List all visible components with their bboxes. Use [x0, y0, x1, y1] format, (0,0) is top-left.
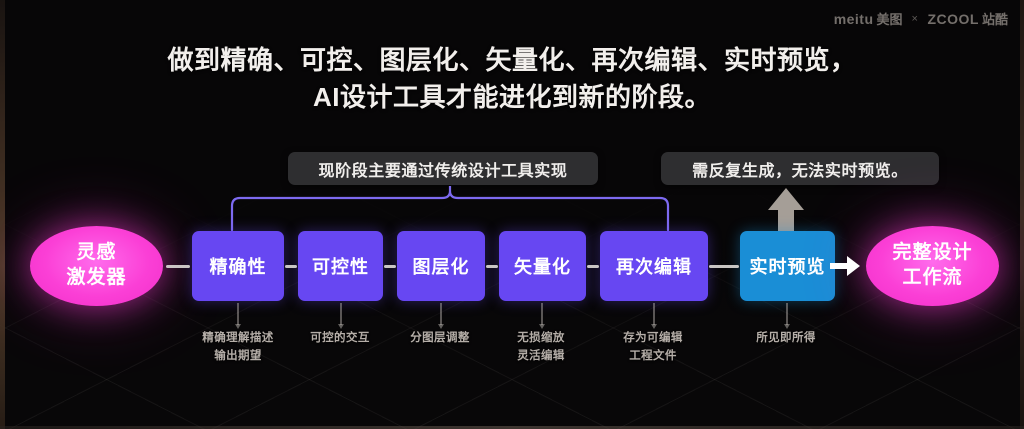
caption-vectorize: 无损缩放 灵活编辑 [487, 330, 595, 366]
caption-layering: 分图层调整 [386, 330, 494, 348]
flow-end-oval-line2: 工作流 [902, 266, 962, 291]
callout-no-realtime-preview: 需反复生成，无法实时预览。 [661, 152, 939, 185]
flow-start-oval-line2: 激发器 [66, 266, 126, 291]
flow-end-oval-line1: 完整设计 [892, 241, 972, 266]
flow-start-oval: 灵感 激发器 [30, 226, 163, 306]
callout-traditional-tools: 现阶段主要通过传统设计工具实现 [288, 152, 598, 185]
meitu-logo-latin: meitu [834, 11, 874, 27]
tick-vectorize [541, 303, 543, 325]
meitu-logo: meitu 美图 [834, 9, 903, 28]
brand-lockup: meitu 美图 × ZCOOL 站酷 [834, 9, 1008, 28]
tick-precision [237, 303, 239, 325]
connector-layer-to-vector [486, 265, 498, 268]
connector-reedit-to-preview [709, 265, 739, 268]
right-arrow-icon [830, 254, 860, 278]
connector-control-to-layer [384, 265, 396, 268]
zcool-logo: ZCOOL 站酷 [927, 9, 1008, 28]
meitu-logo-cn: 美图 [877, 9, 903, 28]
flow-node-vectorize[interactable]: 矢量化 [499, 231, 586, 301]
brand-separator-icon: × [912, 13, 919, 25]
slide-title: 做到精确、可控、图层化、矢量化、再次编辑、实时预览， AI设计工具才能进化到新的… [0, 42, 1024, 116]
flow-node-precision[interactable]: 精确性 [192, 231, 284, 301]
flow-start-oval-line1: 灵感 [76, 241, 116, 266]
slide-title-line1: 做到精确、可控、图层化、矢量化、再次编辑、实时预览， [167, 45, 856, 75]
slide-canvas: meitu 美图 × ZCOOL 站酷 做到精确、可控、图层化、矢量化、再次编辑… [0, 0, 1024, 429]
caption-controllable: 可控的交互 [288, 330, 392, 348]
connector-precision-to-control [285, 265, 297, 268]
flow-node-live-preview[interactable]: 实时预览 [740, 231, 835, 301]
tick-layering [440, 303, 442, 325]
flow-node-controllable[interactable]: 可控性 [298, 231, 383, 301]
flow-end-oval: 完整设计 工作流 [866, 226, 999, 306]
flow-node-layering[interactable]: 图层化 [397, 231, 485, 301]
tick-live-preview [786, 303, 788, 325]
caption-live-preview: 所见即所得 [730, 330, 842, 348]
caption-re-edit: 存为可编辑 工程文件 [597, 330, 709, 366]
tick-controllable [340, 303, 342, 325]
connector-vector-to-reedit [587, 265, 599, 268]
zcool-logo-cn: 站酷 [982, 9, 1008, 28]
up-arrow-icon [764, 186, 808, 234]
bracket-connector [230, 186, 670, 232]
caption-precision: 精确理解描述 输出期望 [182, 330, 294, 366]
flow-node-re-edit[interactable]: 再次编辑 [600, 231, 708, 301]
slide-title-line2: AI设计工具才能进化到新的阶段。 [0, 79, 1024, 116]
zcool-logo-latin: ZCOOL [927, 11, 979, 27]
connector-oval-to-precision [166, 265, 190, 268]
tick-re-edit [653, 303, 655, 325]
